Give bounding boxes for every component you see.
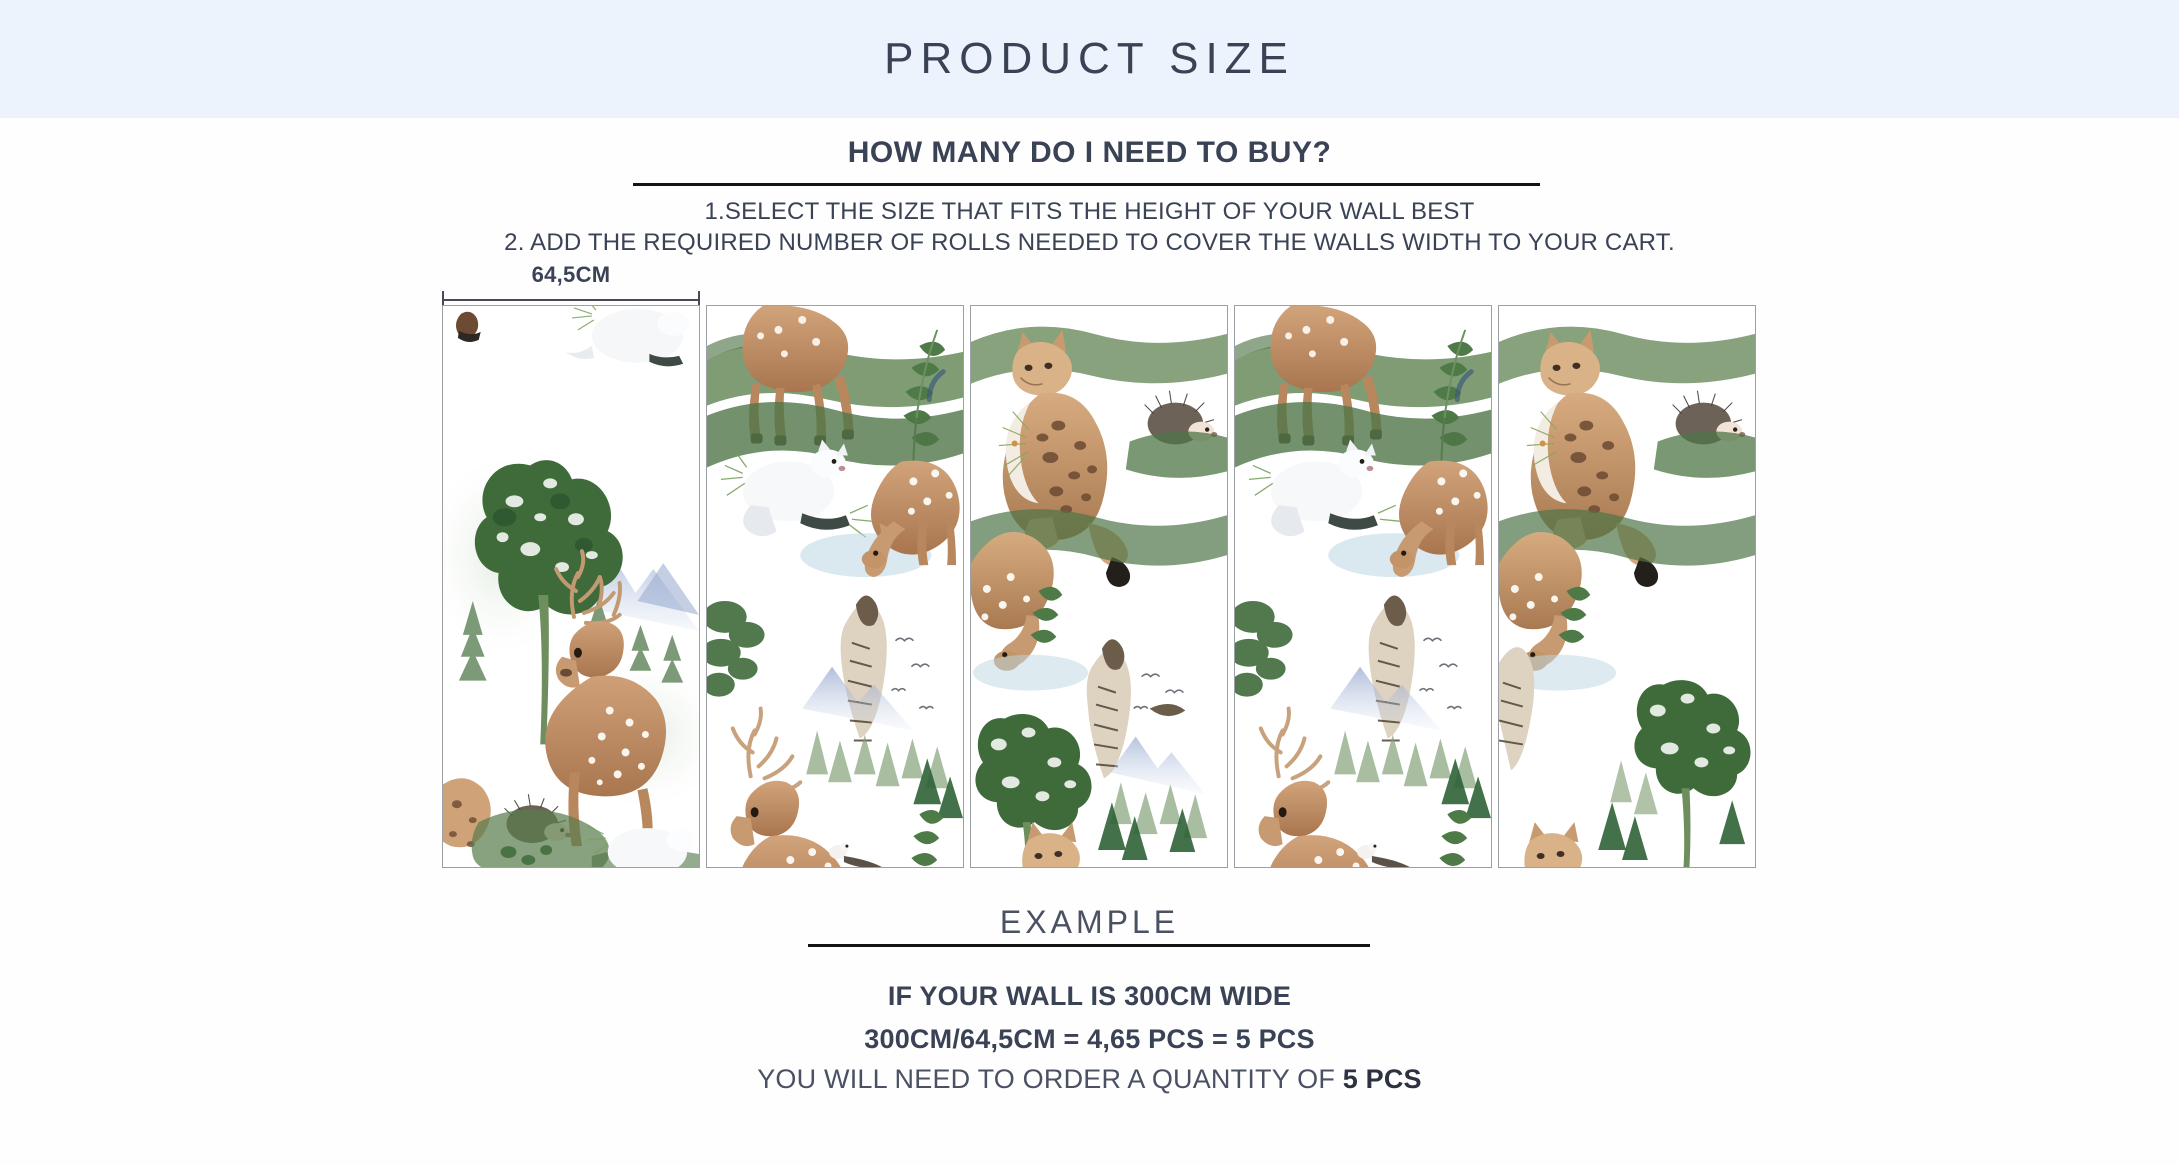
wallpaper-panel-1[interactable] xyxy=(442,305,700,868)
wallpaper-panel-4[interactable] xyxy=(1234,305,1492,868)
example-divider xyxy=(808,944,1370,947)
wallpaper-panel-5[interactable] xyxy=(1498,305,1756,868)
wallpaper-art-2 xyxy=(707,306,963,867)
instruction-step-1: 1.SELECT THE SIZE THAT FITS THE HEIGHT O… xyxy=(0,196,2179,227)
wallpaper-art-3 xyxy=(971,306,1227,867)
example-total-prefix: YOU WILL NEED TO ORDER A QUANTITY OF xyxy=(757,1064,1343,1094)
example-body: IF YOUR WALL IS 300CM WIDE 300CM/64,5CM … xyxy=(0,975,2179,1061)
section-heading: HOW MANY DO I NEED TO BUY? xyxy=(0,136,2179,170)
dimension-label: 64,5CM xyxy=(442,262,700,288)
wallpaper-panel-strip xyxy=(442,305,1756,868)
example-calculation: 300CM/64,5CM = 4,65 PCS = 5 PCS xyxy=(0,1018,2179,1061)
dimension-bar xyxy=(442,299,700,301)
wallpaper-art-1 xyxy=(443,306,699,867)
wallpaper-panel-2[interactable] xyxy=(706,305,964,868)
roll-width-dimension: 64,5CM xyxy=(442,262,700,306)
example-wall-width: IF YOUR WALL IS 300CM WIDE xyxy=(0,975,2179,1018)
page-title: PRODUCT SIZE xyxy=(884,34,1295,84)
wallpaper-art-4 xyxy=(1235,306,1491,867)
wallpaper-art-5 xyxy=(1499,306,1755,867)
instruction-step-2: 2. ADD THE REQUIRED NUMBER OF ROLLS NEED… xyxy=(0,227,2179,258)
header-band: PRODUCT SIZE xyxy=(0,0,2179,118)
example-total: YOU WILL NEED TO ORDER A QUANTITY OF 5 P… xyxy=(0,1064,2179,1095)
example-heading: EXAMPLE xyxy=(0,904,2179,941)
instruction-list: 1.SELECT THE SIZE THAT FITS THE HEIGHT O… xyxy=(0,196,2179,258)
heading-divider xyxy=(633,183,1540,186)
wallpaper-panel-3[interactable] xyxy=(970,305,1228,868)
example-total-value: 5 PCS xyxy=(1343,1064,1422,1094)
